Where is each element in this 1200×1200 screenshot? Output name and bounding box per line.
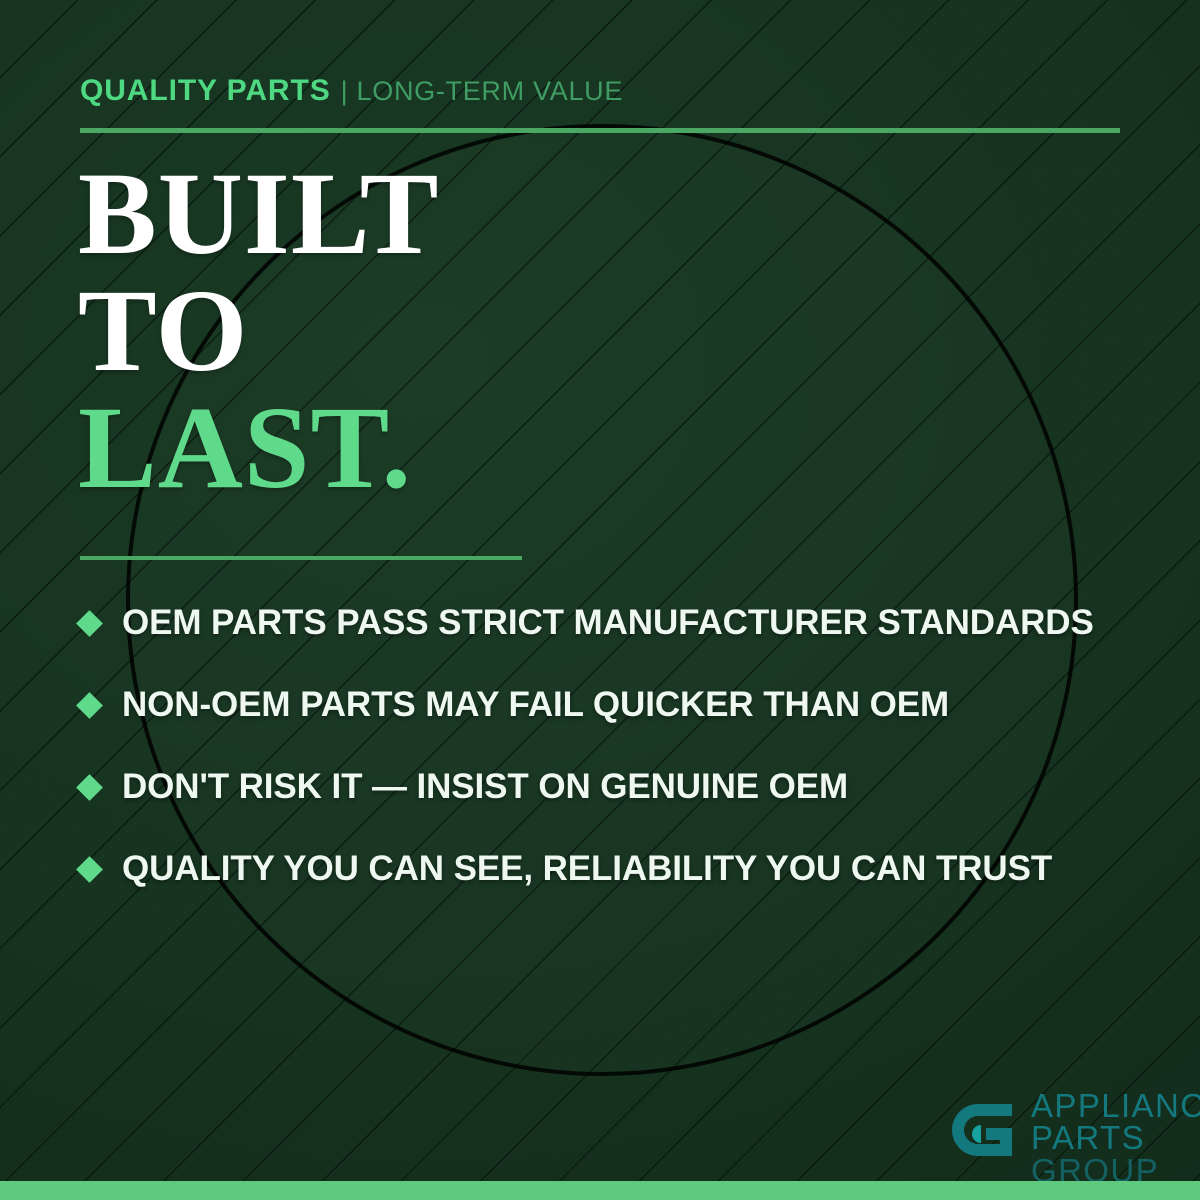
list-item: OEM PARTS PASS STRICT MANUFACTURER STAND… (80, 582, 1160, 664)
headline-line-3: LAST. (78, 390, 778, 507)
diamond-icon (76, 856, 103, 883)
headline-divider (80, 556, 522, 560)
list-item-label: DON'T RISK IT — INSIST ON GENUINE OEM (122, 767, 848, 807)
list-item-label: NON-OEM PARTS MAY FAIL QUICKER THAN OEM (122, 685, 949, 725)
kicker-primary-label: QUALITY PARTS (80, 74, 331, 108)
headline-block: BUILT TO LAST. (78, 156, 778, 506)
bottom-accent-bar (0, 1181, 1200, 1200)
diamond-icon (76, 610, 103, 637)
header-kicker: QUALITY PARTS | LONG-TERM VALUE (80, 74, 623, 108)
list-item: DON'T RISK IT — INSIST ON GENUINE OEM (80, 746, 1160, 828)
list-item-label: QUALITY YOU CAN SEE, RELIABILITY YOU CAN… (122, 849, 1052, 889)
brand-wordmark: APPLIANCE PARTS GROUP (1031, 1090, 1200, 1187)
brand-logo: APPLIANCE PARTS GROUP (942, 1090, 1200, 1187)
list-item: QUALITY YOU CAN SEE, RELIABILITY YOU CAN… (80, 828, 1160, 910)
list-item-label: OEM PARTS PASS STRICT MANUFACTURER STAND… (122, 603, 1094, 643)
g-monogram-icon (942, 1094, 1018, 1174)
header-divider (80, 128, 1120, 133)
kicker-secondary-label: | LONG-TERM VALUE (341, 76, 623, 107)
brand-word-2: PARTS (1031, 1122, 1200, 1154)
list-item: NON-OEM PARTS MAY FAIL QUICKER THAN OEM (80, 664, 1160, 746)
brand-word-1: APPLIANCE (1031, 1090, 1200, 1122)
diamond-icon (76, 774, 103, 801)
promo-poster: QUALITY PARTS | LONG-TERM VALUE BUILT TO… (0, 0, 1200, 1200)
benefits-list: OEM PARTS PASS STRICT MANUFACTURER STAND… (80, 582, 1160, 910)
headline-line-2: TO (78, 273, 778, 390)
headline-line-1: BUILT (78, 156, 778, 273)
diamond-icon (76, 692, 103, 719)
